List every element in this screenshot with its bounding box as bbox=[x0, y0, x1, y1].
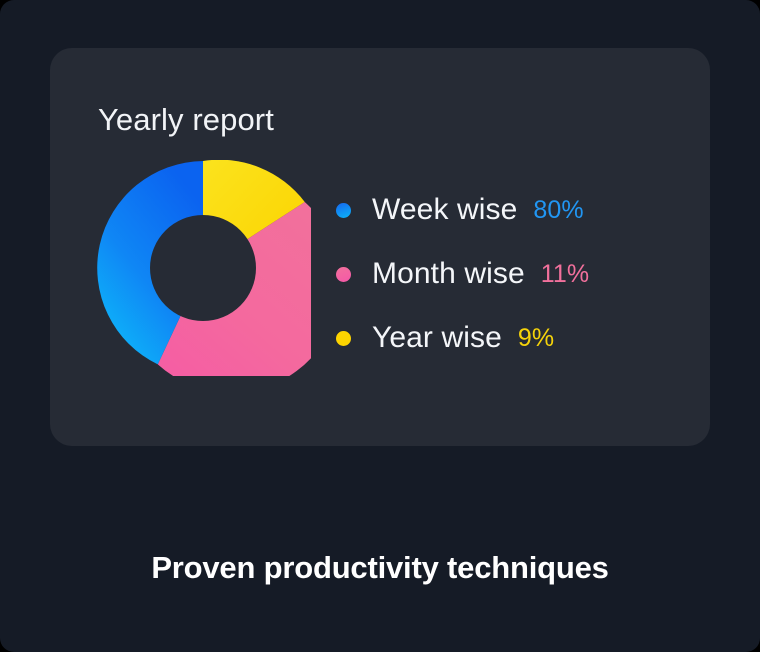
donut-hole bbox=[150, 215, 256, 321]
legend-value-year-wise: 9% bbox=[518, 324, 554, 353]
donut-chart-svg bbox=[95, 160, 311, 376]
donut-chart bbox=[95, 160, 311, 376]
yearly-report-card: Yearly report bbox=[50, 48, 710, 446]
legend-value-week-wise: 80% bbox=[533, 196, 583, 225]
legend-label-year-wise: Year wise bbox=[372, 321, 502, 355]
legend-value-month-wise: 11% bbox=[541, 260, 589, 289]
yellow-dot-icon bbox=[336, 331, 351, 346]
legend-item-year-wise[interactable]: Year wise 9% bbox=[336, 306, 676, 370]
blue-dot-icon bbox=[336, 203, 351, 218]
legend-label-week-wise: Week wise bbox=[372, 193, 517, 227]
chart-legend: Week wise 80% Month wise 11% Year wise 9… bbox=[336, 178, 676, 370]
legend-item-week-wise[interactable]: Week wise 80% bbox=[336, 178, 676, 242]
legend-label-month-wise: Month wise bbox=[372, 257, 525, 291]
pink-dot-icon bbox=[336, 267, 351, 282]
page-title: Yearly report bbox=[98, 102, 274, 138]
footer-heading: Proven productivity techniques bbox=[0, 550, 760, 586]
legend-item-month-wise[interactable]: Month wise 11% bbox=[336, 242, 676, 306]
app-screen: Yearly report bbox=[0, 0, 760, 652]
